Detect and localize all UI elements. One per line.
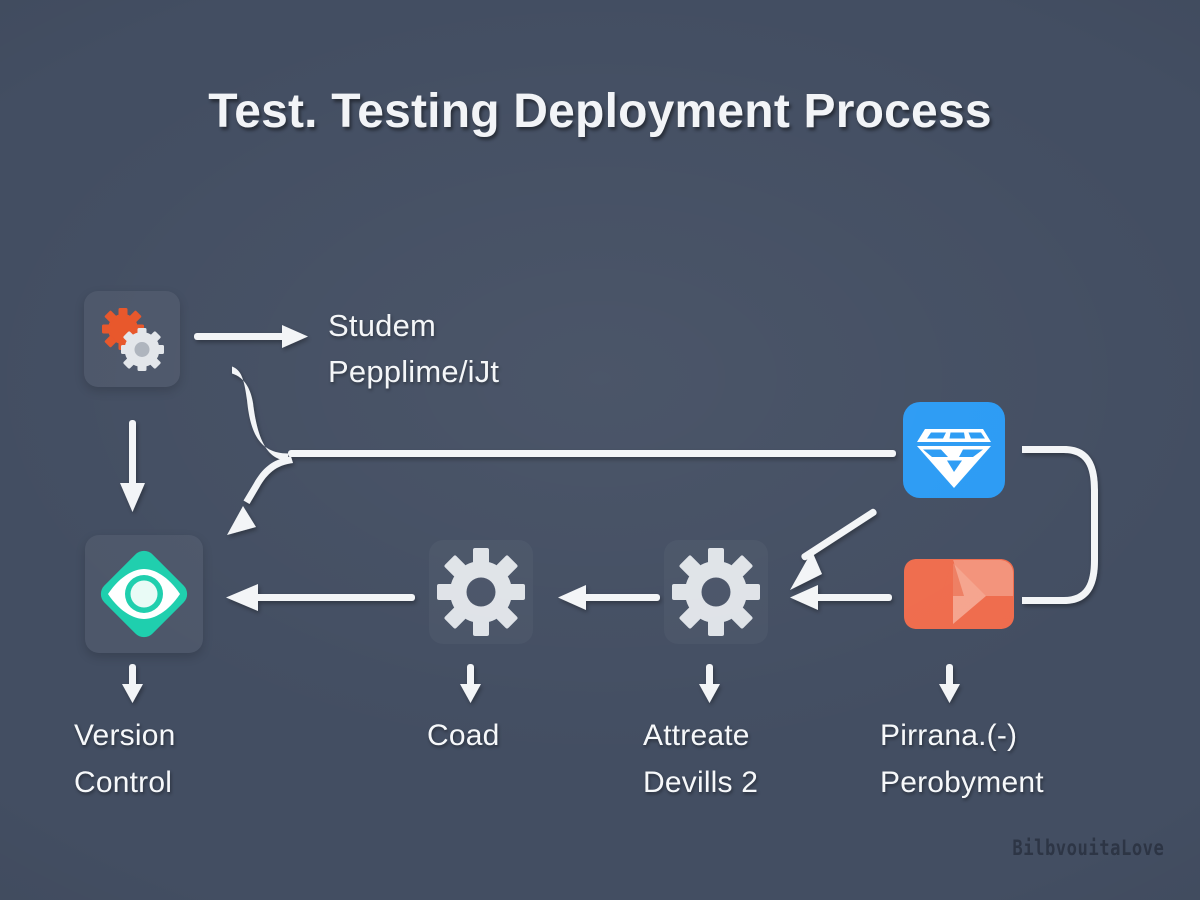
caption-version-control: Version Control (74, 712, 175, 806)
arrow-down-automated (699, 664, 720, 703)
arrow-automated-to-code (558, 585, 660, 610)
caption-deployment-line1: Pirrana.(-) (880, 712, 1044, 759)
caption-automated-builds: Attreate Devills 2 (643, 712, 758, 806)
caption-code-line1: Coad (427, 712, 500, 759)
node-icon-deployment[interactable] (896, 538, 1024, 648)
node-icon-release-gem[interactable] (901, 400, 1007, 500)
arrow-down-code (460, 664, 481, 703)
cube-box-icon (896, 538, 1024, 648)
arrow-down-deployment (939, 664, 960, 703)
double-gears-icon (94, 301, 170, 377)
diamond-gem-icon (901, 400, 1007, 500)
caption-version-control-line1: Version (74, 712, 175, 759)
arrow-code-to-version-control (226, 584, 415, 611)
arrow-gears-to-note (194, 325, 308, 348)
node-icon-code[interactable] (429, 540, 533, 644)
diagram-canvas: Test. Testing Deployment Process (0, 0, 1200, 900)
eye-diamond-icon (88, 538, 200, 650)
arrow-gears-to-version-control (120, 420, 145, 512)
gear-icon (433, 544, 529, 640)
pipeline-annotation-line2: Pepplime/iJt (328, 349, 499, 395)
arrow-deployment-to-automated (790, 585, 892, 610)
watermark: BilbvouitaLove (1012, 836, 1164, 860)
pipeline-annotation: Studem Pepplime/iJt (328, 303, 499, 395)
arrow-gem-to-automated (790, 508, 878, 590)
caption-deployment-line2: Perobyment (880, 759, 1044, 806)
node-icon-double-gears[interactable] (84, 291, 180, 387)
caption-deployment: Pirrana.(-) Perobyment (880, 712, 1044, 806)
caption-version-control-line2: Control (74, 759, 175, 806)
arrow-down-version-control (122, 664, 143, 703)
connector-gem-to-deployment (1022, 446, 1098, 604)
caption-code: Coad (427, 712, 500, 759)
caption-automated-builds-line1: Attreate (643, 712, 758, 759)
node-icon-automated-builds[interactable] (664, 540, 768, 644)
pipeline-annotation-line1: Studem (328, 303, 499, 349)
gear-icon (668, 544, 764, 640)
caption-automated-builds-line2: Devills 2 (643, 759, 758, 806)
node-icon-version-control[interactable] (85, 535, 203, 653)
